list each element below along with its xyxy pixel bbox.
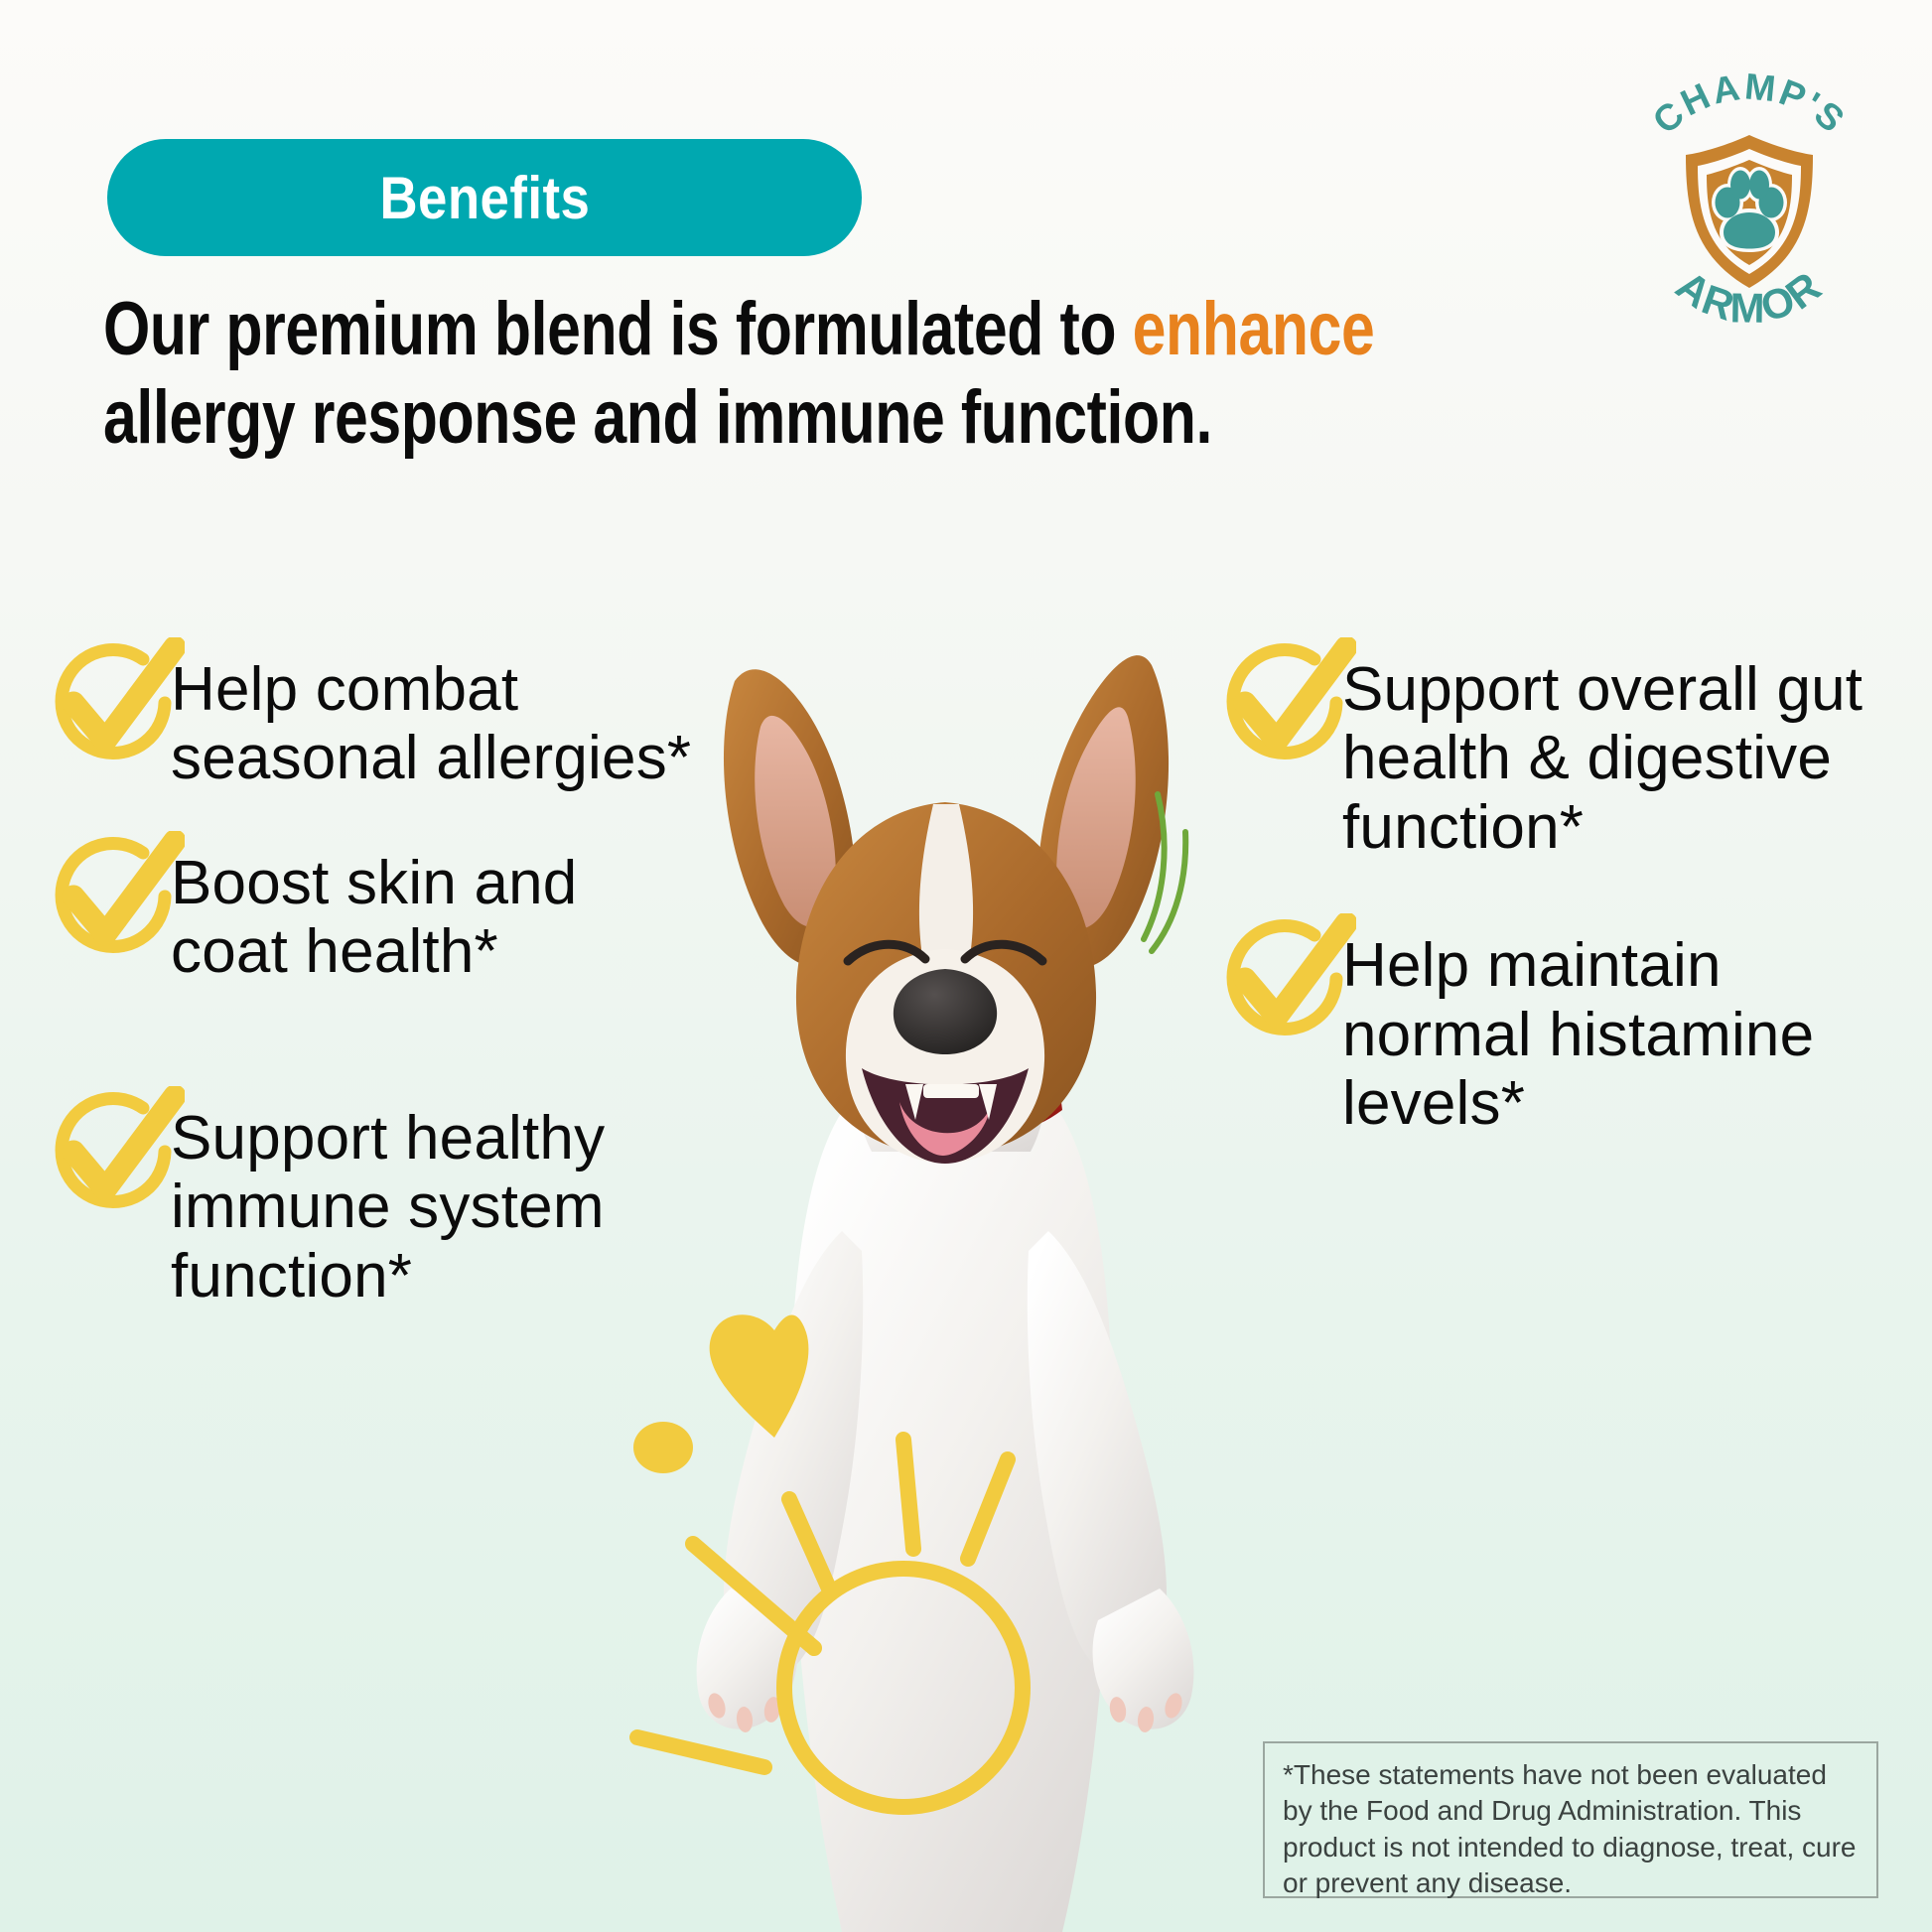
fda-disclaimer-text: *These statements have not been evaluate… <box>1283 1759 1857 1898</box>
check-circle-icon <box>1219 637 1356 768</box>
benefits-column-left: Help combat seasonal allergies* Boost sk… <box>48 655 703 1311</box>
check-circle-icon <box>1219 913 1356 1044</box>
champs-armor-logo: CHAMP'S ARMOR <box>1624 62 1874 340</box>
check-circle-icon <box>48 637 185 768</box>
benefit-item: Support overall gut health & digestive f… <box>1219 655 1874 862</box>
headline-line2: allergy response and immune function. <box>103 375 1212 460</box>
benefit-item: Support healthy immune system function* <box>48 1104 703 1311</box>
benefit-text: Support overall gut health & digestive f… <box>1342 655 1874 862</box>
benefits-badge-label: Benefits <box>379 164 590 232</box>
benefits-column-right: Support overall gut health & digestive f… <box>1219 655 1874 1139</box>
benefit-text: Boost skin and coat health* <box>171 849 703 987</box>
page-headline: Our premium blend is formulated to enhan… <box>103 286 1513 463</box>
benefit-item: Boost skin and coat health* <box>48 849 703 987</box>
benefit-item: Help maintain normal histamine levels* <box>1219 931 1874 1138</box>
benefit-text: Help maintain normal histamine levels* <box>1342 931 1874 1138</box>
benefits-badge: Benefits <box>107 139 862 256</box>
headline-accent-word: enhance <box>1133 287 1375 371</box>
logo-top-text: CHAMP'S <box>1645 66 1854 141</box>
benefit-item: Help combat seasonal allergies* <box>48 655 703 793</box>
check-circle-icon <box>48 1086 185 1217</box>
check-circle-icon <box>48 831 185 962</box>
fda-disclaimer-box: *These statements have not been evaluate… <box>1263 1741 1878 1898</box>
headline-line1-pre: Our premium blend is formulated to <box>103 287 1133 371</box>
benefit-text: Support healthy immune system function* <box>171 1104 703 1311</box>
benefit-text: Help combat seasonal allergies* <box>171 655 703 793</box>
